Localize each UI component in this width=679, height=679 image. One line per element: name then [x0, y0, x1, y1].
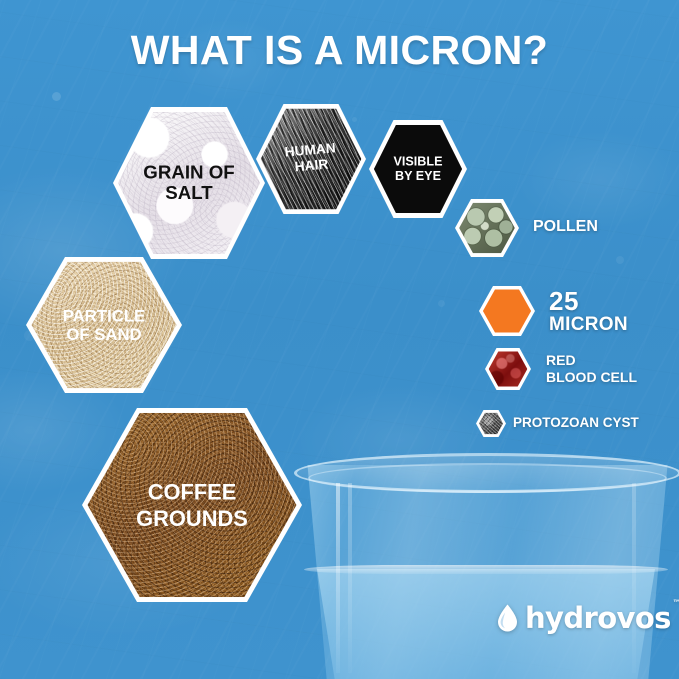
glass-of-water-image — [296, 447, 679, 679]
hexagon-label-line1: GRAIN OF — [143, 162, 234, 183]
label-micron: 25 MICRON — [549, 288, 628, 335]
micron-unit: MICRON — [549, 315, 628, 335]
hexagon-particle-of-sand: PARTICLE OF SAND — [26, 257, 182, 393]
glass-rim-inner — [308, 463, 667, 493]
hexagon-label-line1: PARTICLE — [63, 306, 145, 325]
hexagon-label-line2: BY EYE — [395, 168, 441, 182]
hexagon-label-line1: COFFEE — [148, 479, 237, 504]
brand-text: hydrovos — [525, 601, 671, 635]
hexagon-grain-of-salt: GRAIN OF SALT — [113, 107, 265, 259]
label-line2: BLOOD CELL — [546, 369, 637, 385]
brand-logo[interactable]: hydrovos ™ — [497, 601, 671, 635]
label-pollen: POLLEN — [533, 219, 598, 236]
hexagon-label-line2: SALT — [165, 183, 212, 204]
hexagon-label-line2: GROUNDS — [136, 506, 248, 531]
glass-waterline — [304, 565, 668, 574]
bubble-decoration — [438, 300, 445, 307]
hexagon-protozoan-cyst — [476, 410, 506, 437]
glass-rim-outer — [294, 453, 679, 493]
hexagon-red-blood-cell — [485, 348, 531, 390]
hexagon-human-hair: HUMAN HAIR — [256, 104, 366, 214]
bubble-decoration — [616, 256, 624, 264]
hexagon-label-line2: HAIR — [294, 157, 329, 175]
brand-name: hydrovos ™ — [525, 601, 671, 635]
trademark-symbol: ™ — [672, 599, 679, 609]
water-drop-icon — [497, 604, 518, 632]
label-protozoan-cyst: PROTOZOAN CYST — [513, 416, 639, 430]
infographic-canvas: WHAT IS A MICRON? GRAIN OF SALT HUMAN HA… — [0, 0, 679, 679]
page-title: WHAT IS A MICRON? — [0, 27, 679, 74]
micron-value: 25 — [549, 288, 628, 315]
hexagon-micron-marker — [479, 286, 535, 336]
glass-highlight — [632, 483, 636, 673]
hexagon-pollen — [455, 199, 519, 257]
hexagon-label-line2: OF SAND — [66, 325, 141, 344]
hexagon-coffee-grounds: COFFEE GROUNDS — [82, 408, 302, 602]
glass-body — [296, 465, 679, 679]
label-red-blood-cell: RED BLOOD CELL — [546, 352, 637, 386]
glass-highlight — [336, 483, 340, 673]
label-line1: RED — [546, 352, 576, 368]
hexagon-label-line1: VISIBLE — [393, 154, 442, 168]
glass-highlight — [348, 483, 352, 673]
hexagon-visible-by-eye: VISIBLE BY EYE — [369, 120, 467, 218]
bubble-decoration — [52, 92, 61, 101]
